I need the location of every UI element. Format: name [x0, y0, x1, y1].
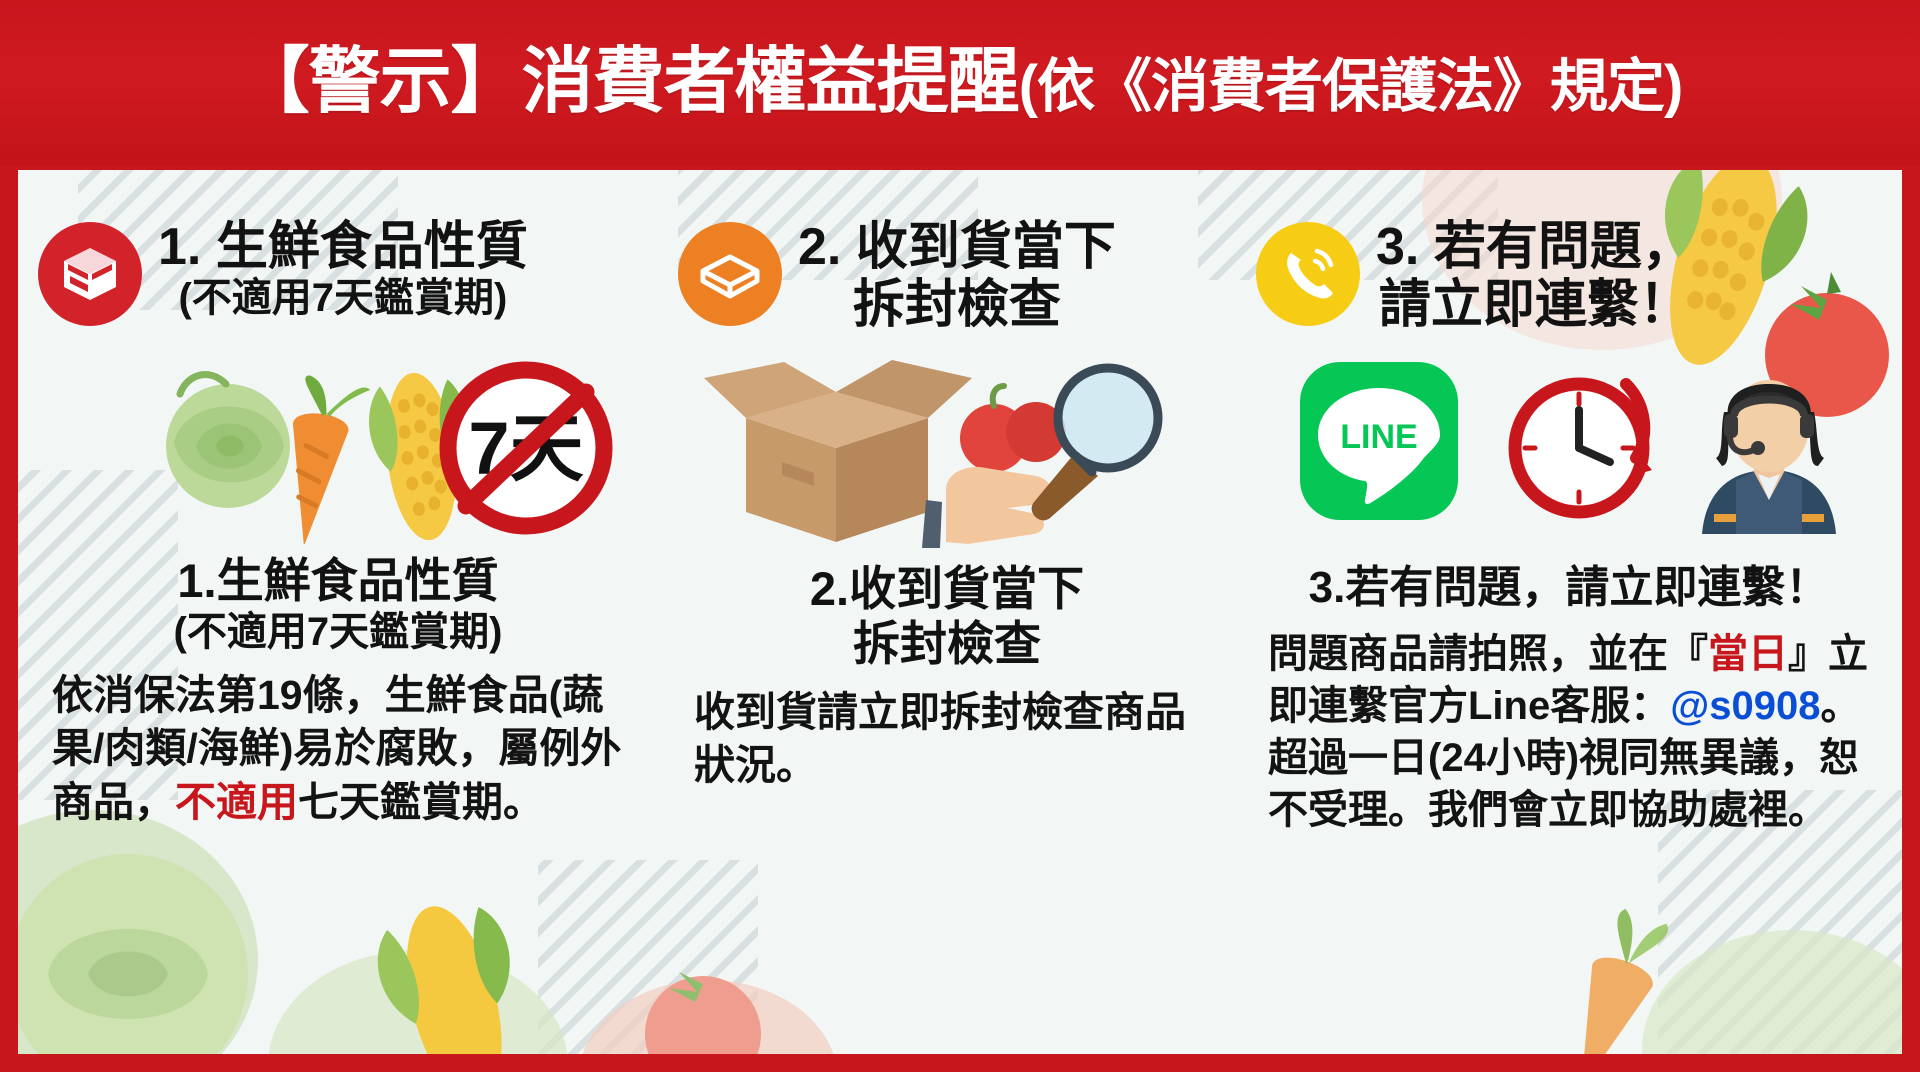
warning-poster: 【警示】消費者權益提醒(依《消費者保護法》規定): [0, 0, 1920, 1072]
header-bar: 【警示】消費者權益提醒(依《消費者保護法》規定): [0, 0, 1920, 166]
phone-ring-icon: [1256, 222, 1360, 326]
column-3: 3. 若有問題， 請立即連繫！ LINE: [1236, 170, 1902, 1054]
column-2-illustration: [666, 352, 1228, 562]
open-box-icon: [678, 222, 782, 326]
column-1-body: 1.生鮮食品性質 (不適用7天鑑賞期) 依消保法第19條，生鮮食品(蔬果/肉類/…: [26, 554, 650, 829]
package-box-glyph: [58, 242, 122, 306]
column-1: 1. 生鮮食品性質 (不適用7天鑑賞期): [18, 170, 658, 1054]
column-2-body-title: 2.收到貨當下: [676, 562, 1218, 617]
column-3-head-main: 3. 若有問題，: [1376, 218, 1694, 276]
line-logo-icon: LINE: [1296, 358, 1462, 524]
column-2-body-subtitle: 拆封檢查: [676, 617, 1218, 672]
customer-service-operator-icon: [1684, 354, 1854, 534]
open-box-glyph: [697, 241, 763, 307]
column-3-body-paragraph: 問題商品請拍照，並在『當日』立即連繫官方Line客服：@s0908。超過一日(2…: [1254, 628, 1884, 836]
column-3-body: 3.若有問題，請立即連繫！ 問題商品請拍照，並在『當日』立即連繫官方Line客服…: [1244, 562, 1894, 835]
column-3-para-line-id[interactable]: @s0908: [1670, 684, 1820, 728]
column-2: 2. 收到貨當下 拆封檢查: [658, 170, 1236, 1054]
column-3-para-part-1: 問題商品請拍照，並在『: [1268, 632, 1708, 676]
column-1-illustration: 7天: [26, 344, 650, 554]
column-1-body-title: 1.生鮮食品性質: [36, 554, 640, 609]
column-1-para-part-2: 不適用: [175, 779, 298, 825]
page-title: 【警示】消費者權益提醒(依《消費者保護法》規定): [238, 45, 1683, 121]
page-title-main: 【警示】消費者權益提醒: [238, 42, 1019, 122]
vegetables-illustration: [156, 354, 466, 544]
column-3-header: 3. 若有問題， 請立即連繫！: [1244, 218, 1894, 334]
no-7-days-badge-icon: 7天: [426, 358, 626, 538]
column-1-head-main: 1. 生鮮食品性質: [158, 218, 528, 276]
column-2-head-main: 2. 收到貨當下: [798, 218, 1116, 276]
package-box-icon: [38, 222, 142, 326]
line-logo-label: LINE: [1340, 418, 1417, 456]
column-2-body: 2.收到貨當下 拆封檢查 收到貨請立即拆封檢查商品狀況。: [666, 562, 1228, 792]
columns-container: 1. 生鮮食品性質 (不適用7天鑑賞期): [18, 170, 1902, 1054]
column-2-head-sub: 拆封檢查: [798, 276, 1116, 334]
magnifier-icon: [1016, 352, 1206, 542]
clock-icon: [1494, 358, 1664, 528]
column-2-header-text: 2. 收到貨當下 拆封檢查: [798, 218, 1116, 334]
column-3-head-sub: 請立即連繫！: [1376, 276, 1694, 334]
column-1-body-paragraph: 依消保法第19條，生鮮食品(蔬果/肉類/海鮮)易於腐敗，屬例外商品，不適用七天鑑…: [36, 669, 640, 829]
column-2-para-part-1: 收到貨請立即拆封檢查商品狀況。: [694, 689, 1186, 788]
column-1-para-part-3: 七天鑑賞期。: [298, 779, 544, 825]
carrot-icon: [276, 374, 371, 544]
column-2-body-paragraph: 收到貨請立即拆封檢查商品狀況。: [676, 686, 1218, 793]
phone-ring-glyph: [1277, 243, 1339, 305]
page-title-paren: (依《消費者保護法》規定): [1019, 54, 1683, 119]
column-3-body-title: 3.若有問題，請立即連繫！: [1254, 562, 1884, 613]
column-3-header-text: 3. 若有問題， 請立即連繫！: [1376, 218, 1694, 334]
content-panel: 1. 生鮮食品性質 (不適用7天鑑賞期): [18, 170, 1902, 1054]
column-3-illustration: LINE: [1244, 352, 1894, 562]
column-1-header: 1. 生鮮食品性質 (不適用7天鑑賞期): [26, 218, 650, 326]
column-1-head-sub: (不適用7天鑑賞期): [158, 276, 528, 321]
column-1-header-text: 1. 生鮮食品性質 (不適用7天鑑賞期): [158, 218, 528, 321]
column-3-para-part-2: 當日: [1708, 632, 1788, 676]
column-1-body-subtitle: (不適用7天鑑賞期): [36, 609, 640, 655]
cabbage-icon: [166, 375, 290, 508]
column-2-header: 2. 收到貨當下 拆封檢查: [666, 218, 1228, 334]
